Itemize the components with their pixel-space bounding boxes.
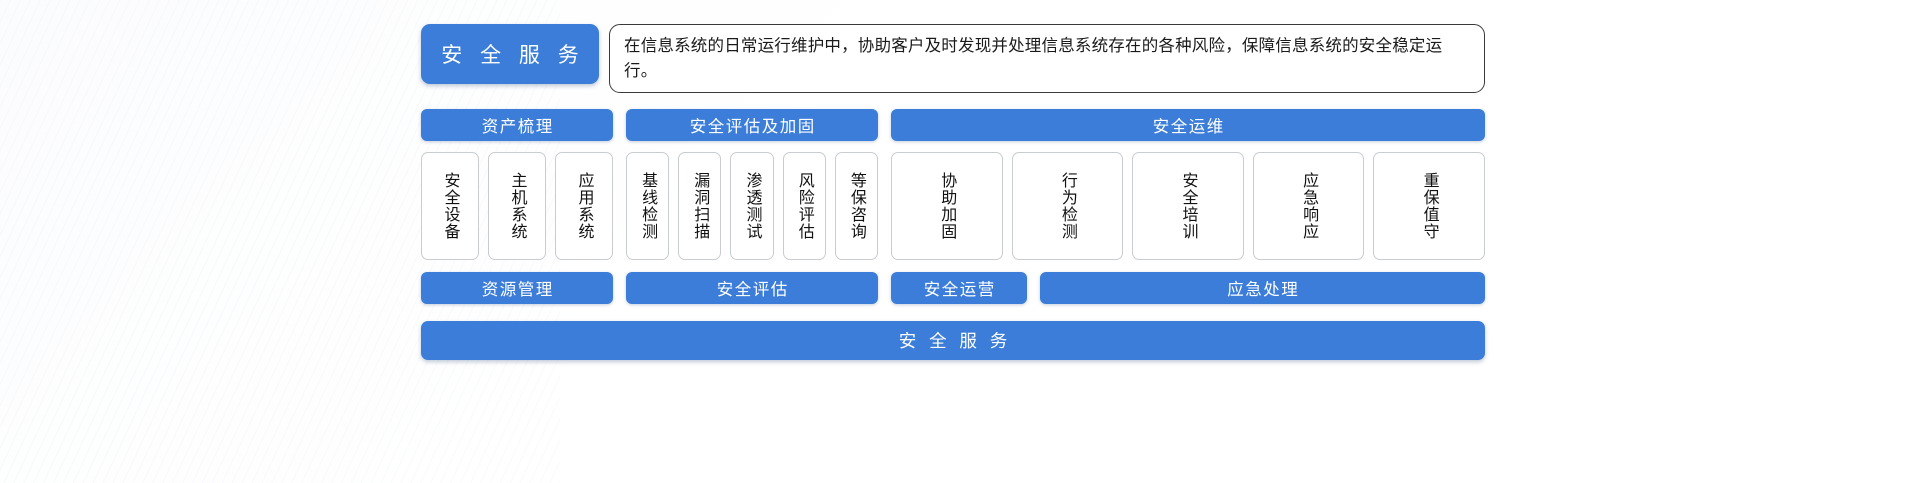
item-card-label: 应急响应	[1298, 172, 1319, 240]
security-service-diagram: 安 全 服 务 在信息系统的日常运行维护中，协助客户及时发现并处理信息系统存在的…	[421, 24, 1485, 360]
item-card: 等保咨询	[835, 152, 878, 260]
item-card: 基线检测	[626, 152, 669, 260]
outcome-bar-security-operation: 安全运营	[891, 272, 1027, 304]
item-card-label: 风险评估	[794, 172, 815, 240]
group-items-asset-inventory: 安全设备 主机系统 应用系统	[421, 152, 613, 260]
item-card: 重保值守	[1373, 152, 1485, 260]
footer-row: 安 全 服 务	[421, 321, 1485, 360]
item-card-label: 行为检测	[1057, 172, 1078, 240]
item-card-label: 基线检测	[637, 172, 658, 240]
item-card-label: 安全培训	[1177, 172, 1198, 240]
item-card-label: 漏洞扫描	[689, 172, 710, 240]
group-header-security-assessment-hardening: 安全评估及加固	[626, 109, 878, 141]
group-headers-row: 资产梳理 安全评估及加固 安全运维	[421, 109, 1485, 141]
outcomes-row: 资源管理 安全评估 安全运营 应急处理	[421, 272, 1485, 304]
group-header-asset-inventory: 资产梳理	[421, 109, 613, 141]
item-card: 安全培训	[1132, 152, 1244, 260]
item-card: 协助加固	[891, 152, 1003, 260]
item-card-label: 安全设备	[440, 172, 461, 240]
service-title-pill: 安 全 服 务	[421, 24, 599, 84]
item-card: 应急响应	[1253, 152, 1365, 260]
item-card: 主机系统	[488, 152, 546, 260]
header-row: 安 全 服 务 在信息系统的日常运行维护中，协助客户及时发现并处理信息系统存在的…	[421, 24, 1485, 93]
item-card: 漏洞扫描	[678, 152, 721, 260]
outcome-bar-security-assessment: 安全评估	[626, 272, 878, 304]
footer-bar-security-service: 安 全 服 务	[421, 321, 1485, 360]
item-card-label: 等保咨询	[846, 172, 867, 240]
group-items-security-operations: 协助加固 行为检测 安全培训 应急响应 重保值守	[891, 152, 1485, 260]
service-description-box: 在信息系统的日常运行维护中，协助客户及时发现并处理信息系统存在的各种风险，保障信…	[609, 24, 1485, 93]
item-card: 安全设备	[421, 152, 479, 260]
item-card: 应用系统	[555, 152, 613, 260]
item-card-label: 应用系统	[574, 172, 595, 240]
item-card: 行为检测	[1012, 152, 1124, 260]
item-card-label: 协助加固	[936, 172, 957, 240]
item-card-label: 渗透测试	[742, 172, 763, 240]
group-header-security-operations: 安全运维	[891, 109, 1485, 141]
diagram-canvas: 安 全 服 务 在信息系统的日常运行维护中，协助客户及时发现并处理信息系统存在的…	[0, 0, 1906, 483]
group-items-security-assessment-hardening: 基线检测 漏洞扫描 渗透测试 风险评估 等保咨询	[626, 152, 878, 260]
item-card: 渗透测试	[730, 152, 773, 260]
item-card-label: 主机系统	[507, 172, 528, 240]
item-card: 风险评估	[783, 152, 826, 260]
item-card-label: 重保值守	[1419, 172, 1440, 240]
outcome-bar-emergency-handling: 应急处理	[1040, 272, 1485, 304]
outcome-bar-resource-management: 资源管理	[421, 272, 613, 304]
group-items-row: 安全设备 主机系统 应用系统 基线检测 漏洞扫描 渗透测试	[421, 152, 1485, 260]
